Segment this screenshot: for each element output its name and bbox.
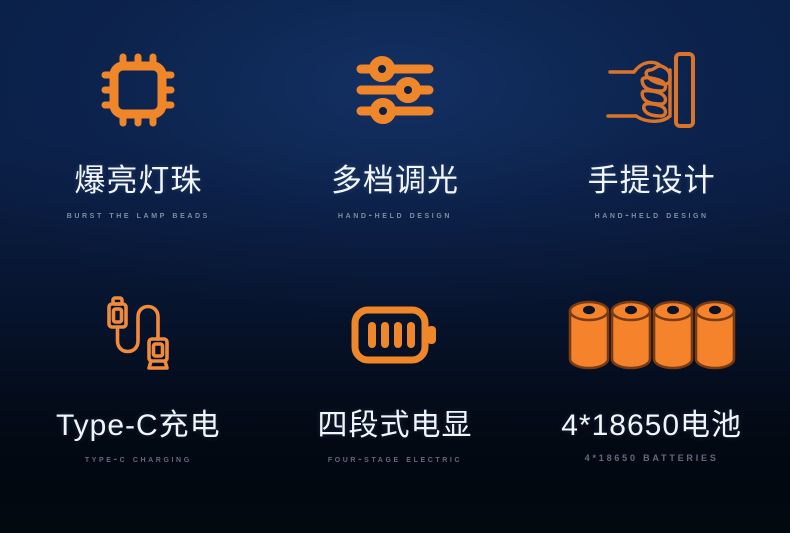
feature-card-type-c-charging: Type-C充电 Type-C charging bbox=[10, 275, 267, 520]
feature-board: 爆亮灯珠 Burst the lamp beads bbox=[0, 0, 790, 533]
feature-subtitle: 4*18650 batteries bbox=[585, 453, 719, 463]
feature-subtitle: Burst the lamp beads bbox=[67, 209, 210, 221]
feature-subtitle: Type-C charging bbox=[85, 453, 192, 465]
hand-grip-handle-icon bbox=[604, 30, 700, 150]
feature-card-18650-batteries: 4*18650电池 4*18650 batteries bbox=[523, 275, 780, 520]
feature-title: 4*18650电池 bbox=[561, 409, 742, 442]
feature-subtitle: Hand-held design bbox=[595, 209, 709, 221]
feature-title: Type-C充电 bbox=[56, 409, 221, 442]
feature-card-lamp-beads: 爆亮灯珠 Burst the lamp beads bbox=[10, 30, 267, 275]
usb-type-c-cable-icon bbox=[100, 275, 176, 395]
feature-card-handle-design: 手提设计 Hand-held design bbox=[523, 30, 780, 275]
feature-subtitle: Four-stage electric bbox=[328, 453, 462, 465]
cpu-chip-icon bbox=[101, 30, 175, 150]
feature-subtitle: Hand-held design bbox=[338, 209, 452, 221]
sliders-icon bbox=[356, 30, 434, 150]
feature-card-four-stage-display: 四段式电显 Four-stage electric bbox=[267, 275, 524, 520]
four-battery-cells-icon bbox=[568, 275, 736, 395]
battery-four-bars-icon bbox=[351, 275, 439, 395]
feature-title: 四段式电显 bbox=[317, 409, 472, 442]
feature-card-dimming: 多档调光 Hand-held design bbox=[267, 30, 524, 275]
feature-title: 多档调光 bbox=[331, 164, 459, 198]
feature-grid: 爆亮灯珠 Burst the lamp beads bbox=[0, 0, 790, 533]
feature-title: 手提设计 bbox=[588, 164, 716, 198]
feature-title: 爆亮灯珠 bbox=[74, 164, 202, 198]
